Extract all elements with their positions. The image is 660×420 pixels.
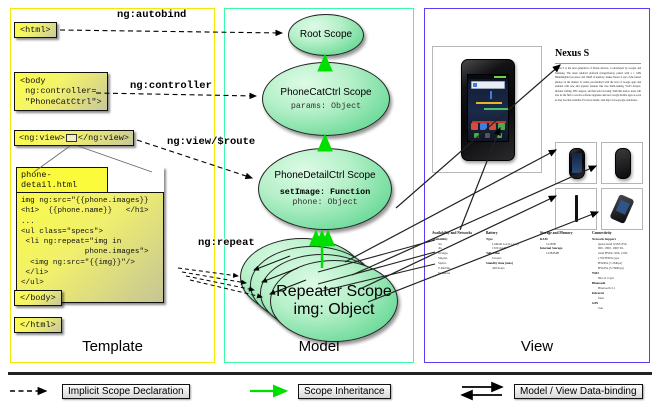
thumb-phone-front bbox=[569, 148, 585, 179]
thumbnail-side[interactable] bbox=[555, 188, 597, 230]
legend-item-databinding: Model / View Data-binding bbox=[460, 382, 643, 400]
label-ng-controller: ng:controller bbox=[130, 80, 212, 92]
hero-image-frame bbox=[432, 46, 542, 173]
scope-repeater-stack: Repeater Scope img: Object bbox=[240, 238, 400, 346]
legend-item-inheritance: Scope Inheritance bbox=[248, 382, 391, 400]
view-description-paragraph: Nexus S is the next generation of Nexus … bbox=[555, 67, 641, 103]
scope-phonedetailctrl-prop-phone: phone: Object bbox=[292, 197, 357, 208]
thumbnail-angled[interactable] bbox=[601, 188, 643, 230]
thumbnail-front-screen[interactable] bbox=[555, 142, 597, 184]
wallpaper-line-3 bbox=[484, 108, 508, 110]
scope-phonecatctrl-prop-params: params: Object bbox=[291, 101, 361, 112]
legend-label-inheritance: Scope Inheritance bbox=[298, 384, 391, 399]
code-tag-body-close: </body> bbox=[14, 290, 62, 306]
label-ng-autobind: ng:autobind bbox=[117, 9, 186, 21]
spec-val: 428 hours bbox=[492, 266, 534, 271]
legend-label-databinding: Model / View Data-binding bbox=[514, 384, 643, 399]
sticky-note-phone-detail: phone-detail.html img ng:src="{{phone.im… bbox=[16, 167, 164, 303]
sticky-note-code: img ng:src="{{phone.images}} <h1> {{phon… bbox=[16, 192, 164, 303]
scope-phonedetailctrl: PhoneDetailCtrl Scope setImage: Function… bbox=[258, 148, 392, 230]
scope-phonedetailctrl-prop-setimage-text: setImage: Function bbox=[280, 187, 370, 197]
scope-root-title: Root Scope bbox=[300, 29, 352, 40]
scope-repeater-title: Repeater Scope bbox=[276, 283, 392, 301]
spec-column-battery: Battery Type Lithium Ion (Li-Ion) 1500 m… bbox=[486, 231, 534, 271]
scope-phonedetailctrl-title: PhoneDetailCtrl Scope bbox=[274, 170, 375, 181]
code-tag-html-open: <html> bbox=[14, 22, 57, 38]
phone-screen bbox=[467, 74, 509, 142]
view-page-title: Nexus S bbox=[555, 48, 589, 59]
ngview-placeholder-icon bbox=[66, 134, 77, 142]
scope-phonecatctrl-title: PhoneCatCtrl Scope bbox=[280, 87, 371, 98]
phone-dock bbox=[471, 132, 505, 139]
thumb-phone-side bbox=[575, 195, 578, 222]
scope-phonedetailctrl-prop-setimage: setImage: Function bbox=[280, 187, 370, 198]
phone-statusbar bbox=[468, 75, 508, 79]
thumb-phone-back bbox=[615, 148, 631, 179]
legend-label-implicit: Implicit Scope Declaration bbox=[62, 384, 190, 399]
section-label-view: View bbox=[424, 338, 650, 355]
legend-divider bbox=[8, 372, 652, 375]
code-tag-body-open: <body ng:controller= "PhoneCatCtrl"> bbox=[14, 72, 108, 111]
spec-val: 16384MB bbox=[546, 251, 588, 256]
legend-item-implicit: Implicit Scope Declaration bbox=[8, 382, 190, 400]
scope-repeater-prop-img: img: Object bbox=[294, 301, 375, 319]
wallpaper-line-2 bbox=[476, 102, 502, 104]
ngview-open-text: <ng:view> bbox=[19, 133, 65, 143]
view-rendered-page: Nexus S Nexus S is the next generation o… bbox=[432, 46, 642, 281]
code-tag-ngview: <ng:view></ng:view> bbox=[14, 130, 134, 146]
view-specs-table: Availability and Networks Availability 3… bbox=[432, 231, 642, 331]
phone-app-icons bbox=[470, 122, 506, 131]
phone-searchbar bbox=[471, 81, 505, 89]
scope-root: Root Scope bbox=[288, 14, 364, 56]
scope-repeater: Repeater Scope img: Object bbox=[270, 260, 398, 342]
label-ng-repeat: ng:repeat bbox=[198, 237, 255, 249]
sticky-note-filename: phone-detail.html bbox=[16, 167, 108, 192]
view-title-divider bbox=[555, 63, 641, 64]
label-ng-view-route: ng:view/$route bbox=[167, 136, 255, 148]
spec-column-availability: Availability and Networks Availability 3… bbox=[432, 231, 480, 276]
wallpaper-line-1 bbox=[490, 91, 492, 99]
thumbnail-back[interactable] bbox=[601, 142, 643, 184]
spec-val: true bbox=[598, 306, 642, 311]
spec-val: Vodafone bbox=[438, 271, 480, 276]
scope-phonecatctrl: PhoneCatCtrl Scope params: Object bbox=[262, 62, 390, 136]
code-tag-html-close: </html> bbox=[14, 317, 62, 333]
spec-column-storage: Storage and Memory RAM 512MB Internal St… bbox=[540, 231, 588, 256]
section-label-template: Template bbox=[10, 338, 215, 355]
thumb-phone-angled bbox=[609, 194, 634, 224]
ngview-close-text: </ng:view> bbox=[78, 133, 129, 143]
spec-column-connectivity: Connectivity Network Support Quad-band G… bbox=[592, 231, 642, 311]
angular-concepts-diagram: Template Model View <html> <body ng:cont… bbox=[0, 0, 660, 420]
phone-hero-image bbox=[461, 59, 515, 161]
